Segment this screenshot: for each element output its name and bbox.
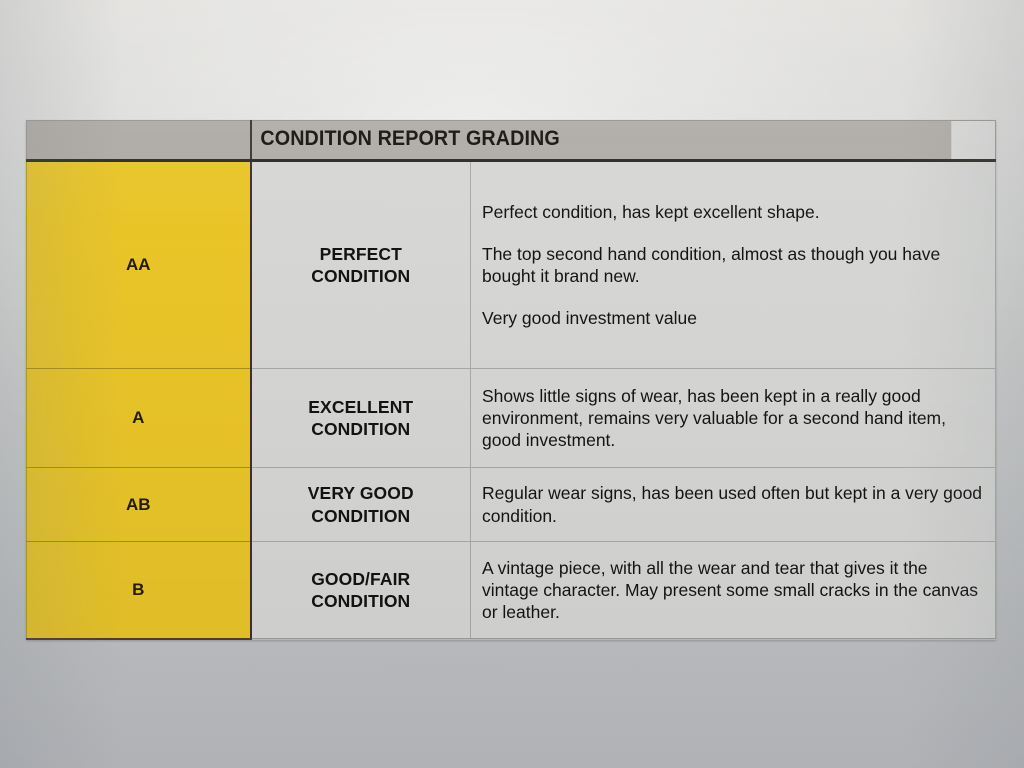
grade-cell-aa: AA [27,161,251,369]
condition-label-b: GOOD/FAIR CONDITION [251,542,471,639]
table-row: A EXCELLENT CONDITION Shows little signs… [27,369,996,468]
condition-label-line: VERY GOOD [308,483,414,503]
condition-label-ab: VERY GOOD CONDITION [251,468,471,542]
description-cell-a: Shows little signs of wear, has been kep… [471,369,996,468]
grade-cell-a: A [27,369,251,468]
description-paragraph: Perfect condition, has kept excellent sh… [482,201,985,223]
grade-cell-ab: AB [27,468,251,542]
condition-label-line: CONDITION [311,419,410,439]
condition-label-line: CONDITION [311,591,410,611]
photographed-document: CONDITION REPORT GRADING AA PERFECT COND… [0,0,1024,768]
header-blank-cell [27,121,251,161]
table-header-row: CONDITION REPORT GRADING [27,121,996,161]
description-paragraph: The top second hand condition, almost as… [482,243,985,287]
condition-report-grading-table: CONDITION REPORT GRADING AA PERFECT COND… [26,120,996,640]
description-cell-b: A vintage piece, with all the wear and t… [471,542,996,639]
description-paragraph: Regular wear signs, has been used often … [482,482,985,526]
description-cell-aa: Perfect condition, has kept excellent sh… [471,161,996,369]
condition-label-line: CONDITION [311,266,410,286]
table-body: AA PERFECT CONDITION Perfect condition, … [27,161,996,639]
condition-label-aa: PERFECT CONDITION [251,161,471,369]
condition-label-line: GOOD/FAIR [311,569,410,589]
description-paragraph: A vintage piece, with all the wear and t… [482,557,985,623]
table-row: B GOOD/FAIR CONDITION A vintage piece, w… [27,542,996,639]
grade-cell-b: B [27,542,251,639]
condition-label-a: EXCELLENT CONDITION [251,369,471,468]
condition-label-line: CONDITION [311,506,410,526]
table-title: CONDITION REPORT GRADING [251,121,951,161]
condition-label-line: EXCELLENT [308,397,413,417]
description-paragraph: Shows little signs of wear, has been kep… [482,385,985,451]
description-paragraph: Very good investment value [482,307,985,329]
table-row: AB VERY GOOD CONDITION Regular wear sign… [27,468,996,542]
description-cell-ab: Regular wear signs, has been used often … [471,468,996,542]
table-row: AA PERFECT CONDITION Perfect condition, … [27,161,996,369]
condition-label-line: PERFECT [320,244,402,264]
